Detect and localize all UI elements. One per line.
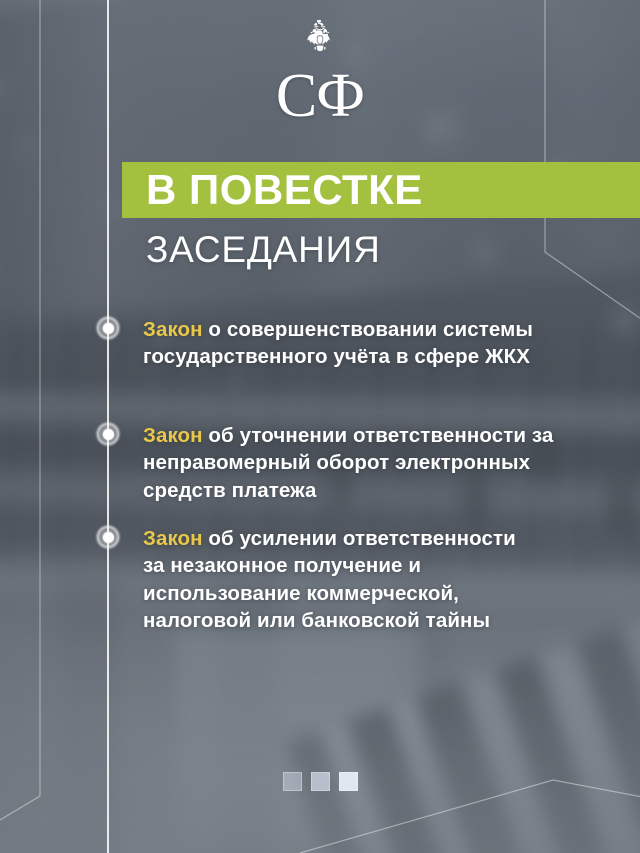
- agenda-item-2: Закон об уточнении ответственности за не…: [143, 422, 613, 504]
- pagination-dot-1[interactable]: [283, 772, 302, 791]
- headline-title: В ПОВЕСТКЕ: [122, 169, 423, 211]
- poster-slide: СФ В ПОВЕСТКЕ ЗАСЕДАНИЯ Закон о совершен…: [0, 0, 640, 853]
- agenda-item-keyword: Закон: [143, 527, 203, 550]
- agenda-item-text: об уточнении ответственности за неправом…: [143, 424, 553, 502]
- agenda-item-1: Закон о совершенствовании системы госуда…: [143, 316, 543, 371]
- pagination-dot-3[interactable]: [339, 772, 358, 791]
- pagination-dot-2[interactable]: [311, 772, 330, 791]
- agenda-item-3: Закон об усилении ответственности за нез…: [143, 525, 533, 634]
- timeline-bullet-core-icon: [103, 429, 114, 440]
- headline-green-band: В ПОВЕСТКЕ: [122, 162, 640, 218]
- agenda-item-keyword: Закон: [143, 424, 203, 447]
- agenda-item-keyword: Закон: [143, 318, 203, 341]
- federation-council-emblem: СФ: [0, 18, 640, 127]
- pagination-indicator: [0, 772, 640, 791]
- headline-subtitle: ЗАСЕДАНИЯ: [146, 230, 381, 269]
- timeline-bullet-core-icon: [103, 532, 114, 543]
- timeline-bullet-core-icon: [103, 323, 114, 334]
- emblem-letters: СФ: [0, 65, 640, 127]
- russian-federation-double-headed-eagle-icon: [297, 18, 343, 64]
